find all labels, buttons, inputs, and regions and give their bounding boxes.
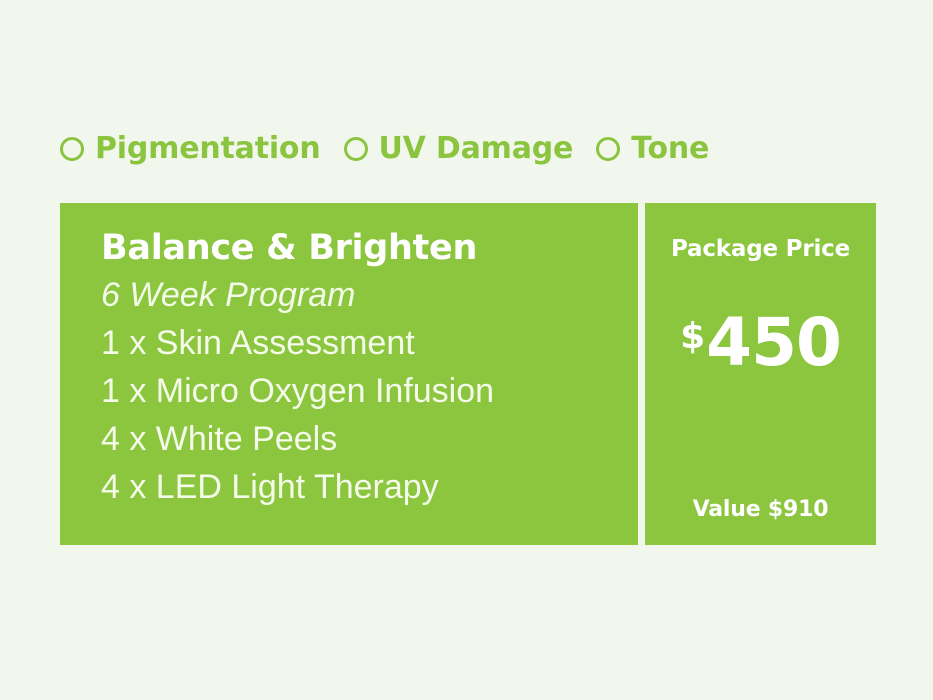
concerns-list: Pigmentation UV Damage Tone (60, 127, 709, 171)
price-value: 450 (706, 313, 841, 374)
currency-symbol: $ (680, 319, 705, 355)
price-amount: $ 450 (680, 313, 841, 374)
package-price-card: Package Price $ 450 Value $910 (645, 203, 876, 545)
package-promo-page: Pigmentation UV Damage Tone Balance & Br… (0, 0, 933, 700)
package-title: Balance & Brighten (101, 225, 608, 271)
concern-label: Tone (631, 132, 709, 166)
concern-label: Pigmentation (95, 132, 321, 166)
concern-item-uv-damage[interactable]: UV Damage (344, 132, 574, 166)
price-caption: Package Price (671, 236, 850, 262)
concern-item-pigmentation[interactable]: Pigmentation (60, 132, 321, 166)
price-original-value: Value $910 (693, 497, 829, 523)
list-item: 4 x LED Light Therapy (101, 463, 608, 511)
package-details-card: Balance & Brighten 6 Week Program 1 x Sk… (60, 203, 638, 545)
concern-label: UV Damage (379, 132, 574, 166)
package-duration: 6 Week Program (101, 271, 608, 319)
circle-outline-icon (596, 137, 620, 161)
package-cards: Balance & Brighten 6 Week Program 1 x Sk… (60, 203, 876, 545)
concern-item-tone[interactable]: Tone (596, 132, 709, 166)
package-inclusions-list: 1 x Skin Assessment 1 x Micro Oxygen Inf… (101, 319, 608, 511)
list-item: 1 x Skin Assessment (101, 319, 608, 367)
circle-outline-icon (344, 137, 368, 161)
list-item: 4 x White Peels (101, 415, 608, 463)
list-item: 1 x Micro Oxygen Infusion (101, 367, 608, 415)
circle-outline-icon (60, 137, 84, 161)
